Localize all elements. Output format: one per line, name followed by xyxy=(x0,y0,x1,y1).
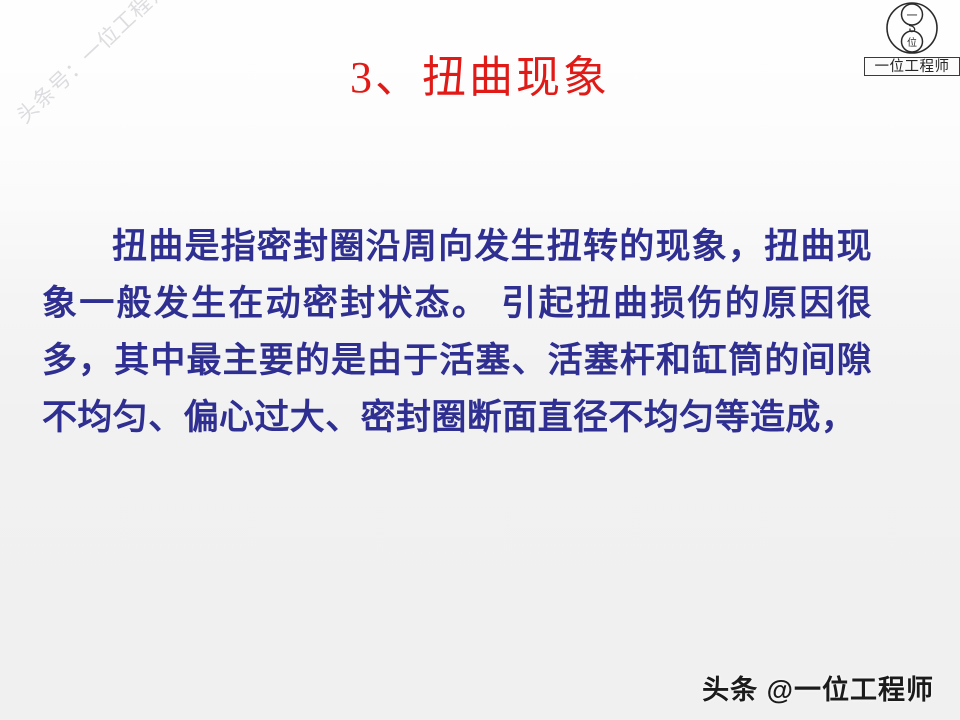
slide-title: 3、扭曲现象 xyxy=(0,52,960,104)
slide-title-number: 3、 xyxy=(350,53,422,102)
slide-canvas: 头条号：一位工程师 一 位 一位工程师 3、扭曲现象 扭曲是指密封圈沿周向发生扭… xyxy=(0,0,960,720)
slide-title-text: 扭曲现象 xyxy=(422,53,610,102)
logo-emblem-icon: 一 位 xyxy=(884,2,940,56)
footer-attribution: 头条 @一位工程师 xyxy=(702,674,934,706)
slide-body-paragraph: 扭曲是指密封圈沿周向发生扭转的现象，扭曲现象一般发生在动密封状态。 引起扭曲损伤… xyxy=(42,218,872,446)
svg-text:位: 位 xyxy=(907,36,917,49)
svg-text:一: 一 xyxy=(907,10,918,22)
